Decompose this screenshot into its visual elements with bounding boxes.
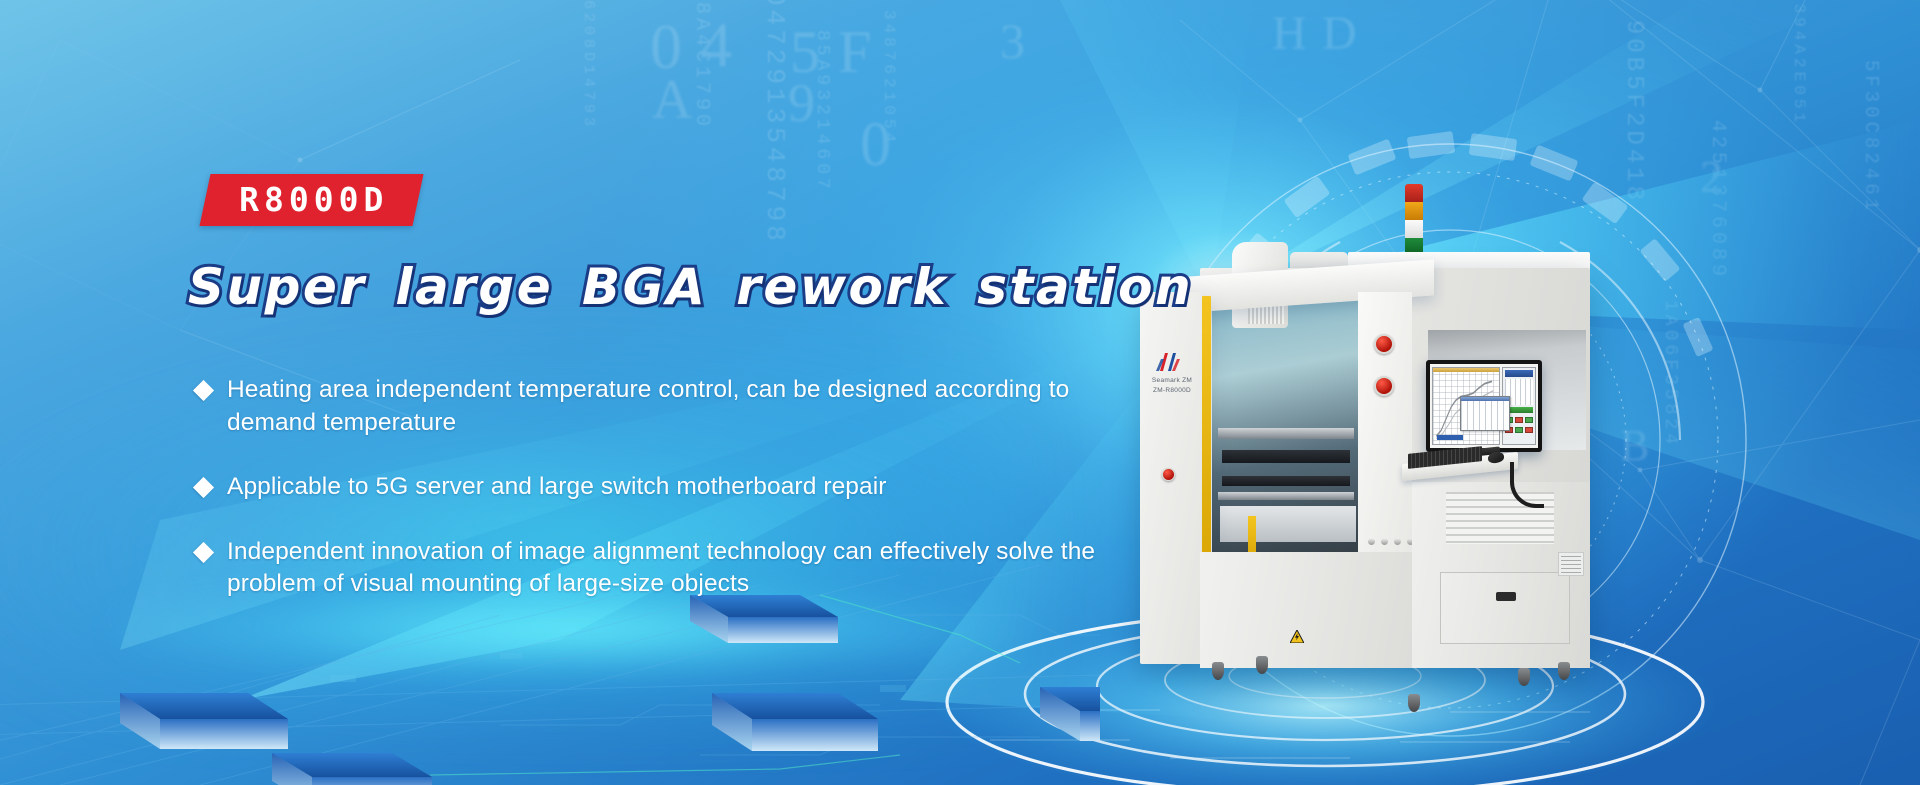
control-knob-row[interactable] bbox=[1368, 538, 1414, 545]
dialog-popup[interactable] bbox=[1460, 396, 1510, 431]
feature-text: Independent innovation of image alignmen… bbox=[227, 536, 1096, 601]
signal-light-red bbox=[1405, 184, 1423, 202]
process-chamber bbox=[1212, 300, 1360, 556]
hero-banner: 0472913548798 85A93214607 2F8A4C1790 348… bbox=[0, 0, 1920, 785]
chamber-rail bbox=[1218, 492, 1354, 500]
brand-name: Seamark ZM bbox=[1145, 376, 1199, 386]
feature-item: Heating area independent temperature con… bbox=[196, 374, 1096, 439]
signal-light-amber bbox=[1405, 202, 1423, 220]
cabinet-access-panel[interactable] bbox=[1440, 572, 1570, 644]
matrix-column: 5F30C82461 bbox=[1860, 60, 1882, 214]
seamark-logo-icon bbox=[1153, 350, 1183, 372]
emergency-stop-button[interactable] bbox=[1374, 376, 1394, 396]
diamond-bullet-icon bbox=[193, 477, 214, 498]
feature-list: Heating area independent temperature con… bbox=[196, 374, 1096, 601]
model-badge-label: R8000D bbox=[239, 183, 388, 216]
machine-foot bbox=[1212, 662, 1224, 680]
matrix-glyph: D bbox=[1322, 6, 1357, 61]
model-name: ZM-R8000D bbox=[1145, 386, 1199, 396]
control-knob[interactable] bbox=[1368, 538, 1375, 545]
feature-text: Heating area independent temperature con… bbox=[227, 374, 1096, 439]
monitor-screen[interactable] bbox=[1430, 364, 1538, 448]
matrix-column: 90B5F2D418 bbox=[1620, 20, 1647, 204]
chart-legend-swatch bbox=[1437, 435, 1463, 440]
light-curtain-left bbox=[1202, 296, 1211, 554]
control-knob[interactable] bbox=[1394, 538, 1401, 545]
machine-foot bbox=[1256, 656, 1268, 674]
copy-block: R8000D Super large BGA rework station He… bbox=[0, 0, 1150, 785]
chamber-rail bbox=[1218, 428, 1354, 439]
model-badge: R8000D bbox=[199, 174, 423, 226]
machine-foot bbox=[1408, 694, 1420, 712]
matrix-column: 4251376089 bbox=[1706, 120, 1729, 280]
matrix-glyph: 2 bbox=[1700, 150, 1723, 203]
dialog-data-grid bbox=[1461, 401, 1509, 430]
chamber-pcb bbox=[1222, 476, 1350, 486]
control-knob[interactable] bbox=[1381, 538, 1388, 545]
cabinet-handle[interactable] bbox=[1496, 592, 1516, 601]
matrix-glyph: H bbox=[1272, 6, 1307, 61]
emergency-stop-button[interactable] bbox=[1374, 334, 1394, 354]
emergency-stop-button[interactable] bbox=[1162, 468, 1175, 481]
matrix-column: 7394A2E051 bbox=[1790, 0, 1808, 126]
chamber-pcb bbox=[1222, 450, 1350, 463]
signal-light-white bbox=[1405, 220, 1423, 238]
control-monitor[interactable] bbox=[1426, 360, 1542, 452]
chamber-tray bbox=[1220, 506, 1356, 542]
feature-text: Applicable to 5G server and large switch… bbox=[227, 471, 887, 504]
machine-illustration: Seamark ZM ZM-R8000D bbox=[1140, 200, 1660, 700]
feature-item: Independent innovation of image alignmen… bbox=[196, 536, 1096, 601]
matrix-column: 1A06F35824 bbox=[1660, 300, 1680, 448]
diamond-bullet-icon bbox=[193, 542, 214, 563]
machine-base-skirt bbox=[1200, 552, 1412, 668]
side-panel-header bbox=[1505, 370, 1533, 377]
feature-item: Applicable to 5G server and large switch… bbox=[196, 471, 1096, 504]
machine-foot bbox=[1558, 662, 1570, 680]
machine-spec-plate bbox=[1558, 552, 1584, 576]
machine-foot bbox=[1518, 668, 1530, 686]
page-title: Super large BGA rework station bbox=[188, 258, 1193, 316]
diamond-bullet-icon bbox=[193, 380, 214, 401]
machine-brand-label: Seamark ZM ZM-R8000D bbox=[1145, 376, 1199, 396]
high-voltage-warning-icon bbox=[1290, 630, 1304, 643]
